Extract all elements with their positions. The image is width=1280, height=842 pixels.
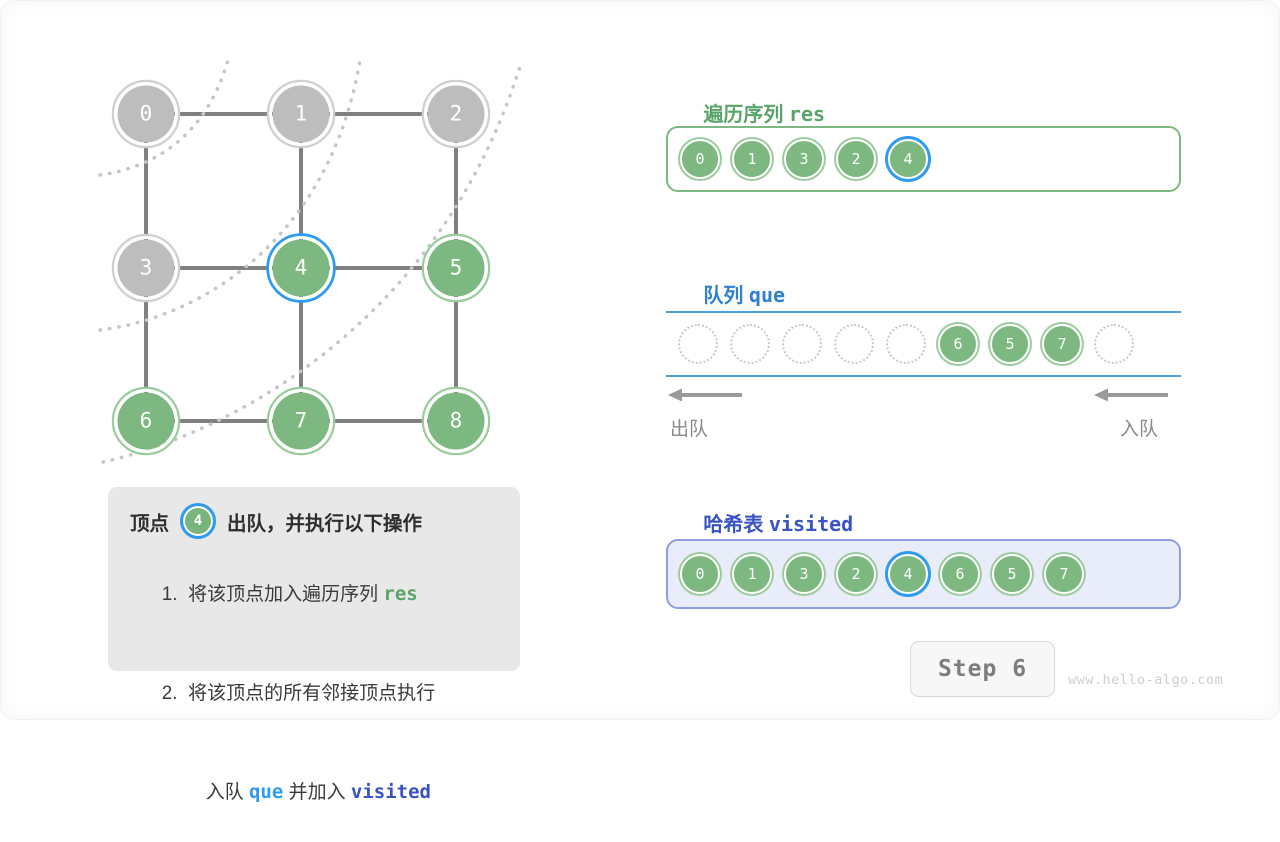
res-cell: 3 bbox=[784, 139, 824, 179]
state-panel: 遍历序列 res 01324 队列 que 657 出队 入队 哈希表 visi… bbox=[620, 0, 1280, 720]
res-array: 01324 bbox=[666, 126, 1181, 192]
caption-headline: 顶点 4 出队，并执行以下操作 bbox=[130, 501, 502, 541]
graph-node-2[interactable] bbox=[428, 86, 485, 143]
res-cell: 0 bbox=[680, 139, 720, 179]
graph-node-0[interactable] bbox=[118, 86, 175, 143]
que-title-code: que bbox=[749, 283, 785, 307]
caption-enqueue-text: 入队 bbox=[206, 782, 244, 803]
que-cell: 7 bbox=[1042, 324, 1082, 364]
caption-step-2-continued: 入队 que 并加入 visited bbox=[130, 743, 502, 842]
watermark: www.hello-algo.com bbox=[1068, 672, 1223, 688]
graph-node-6[interactable] bbox=[118, 393, 175, 450]
caption-add-text: 并加入 bbox=[289, 782, 346, 803]
caption-suffix: 出队，并执行以下操作 bbox=[227, 507, 422, 536]
visited-cell: 0 bbox=[680, 554, 720, 594]
visited-title-code: visited bbox=[769, 512, 853, 536]
caption-step-2-number: 2. bbox=[162, 683, 178, 704]
que-cell bbox=[886, 324, 926, 364]
que-cell bbox=[1094, 324, 1134, 364]
res-cell: 1 bbox=[732, 139, 772, 179]
visited-cell: 3 bbox=[784, 554, 824, 594]
res-cell: 2 bbox=[836, 139, 876, 179]
caption-vertex-badge: 4 bbox=[180, 503, 216, 539]
que-cell: 6 bbox=[938, 324, 978, 364]
que-cell: 5 bbox=[990, 324, 1030, 364]
dequeue-arrow-icon bbox=[666, 386, 744, 404]
node-layer bbox=[113, 81, 489, 454]
que-cell bbox=[834, 324, 874, 364]
graph-node-4[interactable] bbox=[273, 240, 330, 297]
graph-node-5[interactable] bbox=[428, 240, 485, 297]
step-badge: Step 6 bbox=[910, 641, 1055, 697]
visited-cell: 7 bbox=[1044, 554, 1084, 594]
res-title-cn: 遍历序列 bbox=[703, 104, 783, 126]
que-array: 657 bbox=[666, 311, 1181, 377]
que-title-cn: 队列 bbox=[703, 285, 743, 307]
visited-cell: 5 bbox=[992, 554, 1032, 594]
visited-cell: 1 bbox=[732, 554, 772, 594]
visited-array: 01324657 bbox=[666, 539, 1181, 609]
caption-visited-code: visited bbox=[351, 781, 431, 803]
enqueue-arrow-icon bbox=[1092, 386, 1170, 404]
caption-step-1-code: res bbox=[383, 583, 417, 605]
caption-step-2: 2. 将该顶点的所有邻接顶点执行 bbox=[130, 644, 502, 743]
graph-node-8[interactable] bbox=[428, 393, 485, 450]
caption-step-1-text: 将该顶点加入遍历序列 bbox=[188, 584, 378, 605]
visited-cell: 6 bbox=[940, 554, 980, 594]
graph-node-7[interactable] bbox=[273, 393, 330, 450]
caption-step-1: 1. 将该顶点加入遍历序列 res bbox=[130, 545, 502, 644]
caption-prefix: 顶点 bbox=[130, 507, 169, 536]
res-cell: 4 bbox=[888, 139, 928, 179]
caption-step-1-number: 1. bbox=[162, 584, 178, 605]
graph-node-1[interactable] bbox=[273, 86, 330, 143]
illustration-canvas: 012345678 顶点 4 出队，并执行以下操作 1. 将该顶点加入遍历序列 … bbox=[0, 0, 1280, 720]
que-cell bbox=[782, 324, 822, 364]
visited-cell: 4 bbox=[888, 554, 928, 594]
enqueue-label: 入队 bbox=[1120, 414, 1158, 441]
visited-cell: 2 bbox=[836, 554, 876, 594]
graph-node-3[interactable] bbox=[118, 240, 175, 297]
que-cell bbox=[730, 324, 770, 364]
visited-title-cn: 哈希表 bbox=[703, 514, 763, 536]
caption-step-2-text: 将该顶点的所有邻接顶点执行 bbox=[188, 683, 435, 704]
caption-que-code: que bbox=[249, 781, 283, 803]
res-title-code: res bbox=[789, 102, 825, 126]
dequeue-label: 出队 bbox=[670, 414, 708, 441]
que-cell bbox=[678, 324, 718, 364]
caption-box: 顶点 4 出队，并执行以下操作 1. 将该顶点加入遍历序列 res 2. 将该顶… bbox=[108, 487, 520, 671]
